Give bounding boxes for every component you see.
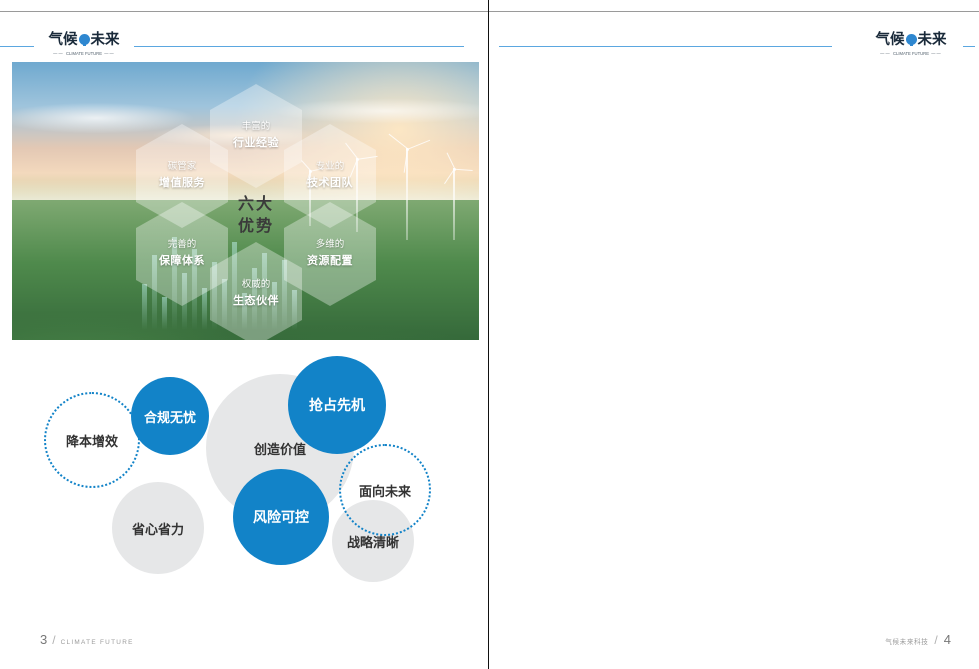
footer-label: 气候未来科技 xyxy=(885,636,928,646)
left-page-header: 气候未来 —— CLIMATE FUTURE —— xyxy=(0,31,488,61)
hero-photo-six-advantages: 丰富的 行业经验 专业的 技术团队 多维的 资源配置 权威的 生态伙伴 xyxy=(12,62,479,340)
hex-center-line2: 优势 xyxy=(238,217,274,235)
header-rule-left xyxy=(0,46,34,47)
right-page-footer: 气候未来科技 / 4 xyxy=(885,632,951,647)
brand-logo-en: —— CLIMATE FUTURE —— xyxy=(38,51,130,56)
left-page-footer: 3 / CLIMATE FUTURE xyxy=(40,632,134,647)
bubble-label: 合规无忧 xyxy=(144,407,196,426)
brand-logo: 气候未来 —— CLIMATE FUTURE —— xyxy=(865,31,957,61)
bubble-label: 省心省力 xyxy=(132,519,184,538)
globe-icon xyxy=(906,34,917,45)
brand-logo-cn-left: 气候 xyxy=(876,32,905,48)
right-page: 气候未来 —— CLIMATE FUTURE —— COMPANY FOUNDE… xyxy=(489,0,979,669)
hex-line2: 技术团队 xyxy=(307,177,353,190)
hex-line2: 资源配置 xyxy=(307,255,353,268)
page-top-rule xyxy=(0,11,488,12)
hexagon-cluster: 丰富的 行业经验 专业的 技术团队 多维的 资源配置 权威的 生态伙伴 xyxy=(12,62,479,340)
bubble-label: 创造价值 xyxy=(254,439,306,458)
bubble-first-mover: 抢占先机 xyxy=(288,356,386,454)
brand-logo-cn: 气候未来 xyxy=(38,31,130,49)
brand-logo-cn: 气候未来 xyxy=(865,31,957,49)
hex-center-line1: 六大 xyxy=(238,195,274,213)
bubble-risk-control: 风险可控 xyxy=(233,469,329,565)
brand-logo-cn-right: 未来 xyxy=(91,32,120,48)
footer-label: CLIMATE FUTURE xyxy=(61,639,134,646)
bubble-label: 风险可控 xyxy=(253,507,309,527)
footer-slash: / xyxy=(934,633,937,647)
hex-line2: 生态伙伴 xyxy=(233,295,279,308)
bubble-label: 降本增效 xyxy=(66,431,118,450)
bubble-future-oriented: 面向未来 xyxy=(339,444,431,536)
hex-line1: 权威的 xyxy=(242,280,271,291)
brand-logo: 气候未来 —— CLIMATE FUTURE —— xyxy=(38,31,130,61)
hex-line2: 增值服务 xyxy=(159,177,205,190)
header-rule-right xyxy=(963,46,975,47)
left-page: 气候未来 —— CLIMATE FUTURE —— xyxy=(0,0,489,669)
hex-line1: 多维的 xyxy=(316,240,345,251)
hex-line2: 行业经验 xyxy=(233,137,279,150)
bubble-label: 面向未来 xyxy=(359,481,411,500)
header-rule-right xyxy=(134,46,464,47)
hex-line1: 碳管家 xyxy=(168,162,197,173)
page-top-rule xyxy=(489,11,979,12)
brand-logo-cn-right: 未来 xyxy=(918,32,947,48)
bubble-label: 抢占先机 xyxy=(309,395,365,415)
page-number: 4 xyxy=(944,632,951,647)
footer-slash: / xyxy=(52,633,55,647)
bubble-cost-reduction: 降本增效 xyxy=(44,392,140,488)
hex-line1: 丰富的 xyxy=(242,122,271,133)
hex-line2: 保障体系 xyxy=(159,255,205,268)
hex-line1: 专业的 xyxy=(316,162,345,173)
hex-line1: 完善的 xyxy=(168,240,197,251)
bubble-compliance: 合规无忧 xyxy=(131,377,209,455)
globe-icon xyxy=(79,34,90,45)
brand-logo-cn-left: 气候 xyxy=(49,32,78,48)
bubble-save-effort: 省心省力 xyxy=(112,482,204,574)
right-page-header: 气候未来 —— CLIMATE FUTURE —— xyxy=(489,31,979,61)
brochure-spread: 气候未来 —— CLIMATE FUTURE —— xyxy=(0,0,979,669)
brand-logo-en: —— CLIMATE FUTURE —— xyxy=(865,51,957,56)
value-bubble-diagram: 创造价值 省心省力 战略清晰 降本增效 面向未来 合规无忧 抢占先机 风险可控 xyxy=(12,352,479,614)
page-number: 3 xyxy=(40,632,47,647)
header-rule-left xyxy=(499,46,832,47)
